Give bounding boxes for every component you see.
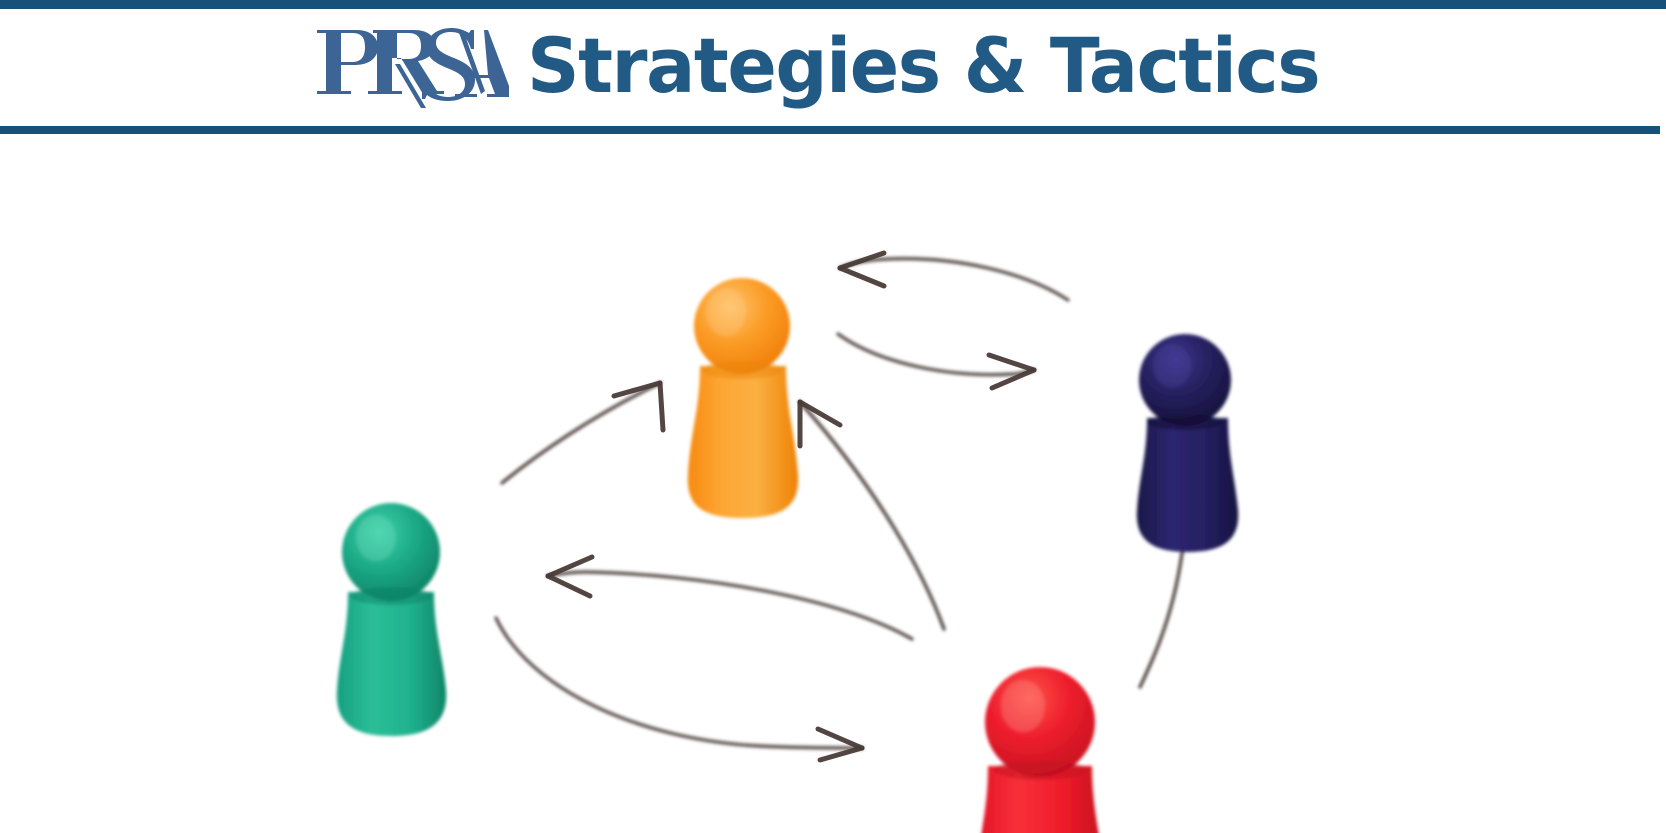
page-title: Strategies & Tactics bbox=[527, 28, 1319, 104]
hero-photo bbox=[0, 134, 1666, 833]
masthead-rule-bottom bbox=[0, 126, 1660, 134]
navy-pawn bbox=[1137, 334, 1238, 552]
page-root: Strategies & Tactics bbox=[0, 0, 1666, 833]
masthead: Strategies & Tactics bbox=[0, 0, 1666, 134]
brand-row: Strategies & Tactics bbox=[313, 20, 1352, 112]
masthead-inner: Strategies & Tactics bbox=[0, 9, 1666, 126]
masthead-rule-top bbox=[0, 0, 1666, 9]
red-pawn bbox=[977, 667, 1104, 833]
orange-pawn bbox=[688, 278, 798, 518]
pawn-network-illustration bbox=[0, 134, 1666, 833]
photo-background bbox=[0, 134, 1666, 833]
prsa-wordmark-logo[interactable] bbox=[313, 20, 509, 112]
teal-pawn bbox=[337, 503, 446, 736]
